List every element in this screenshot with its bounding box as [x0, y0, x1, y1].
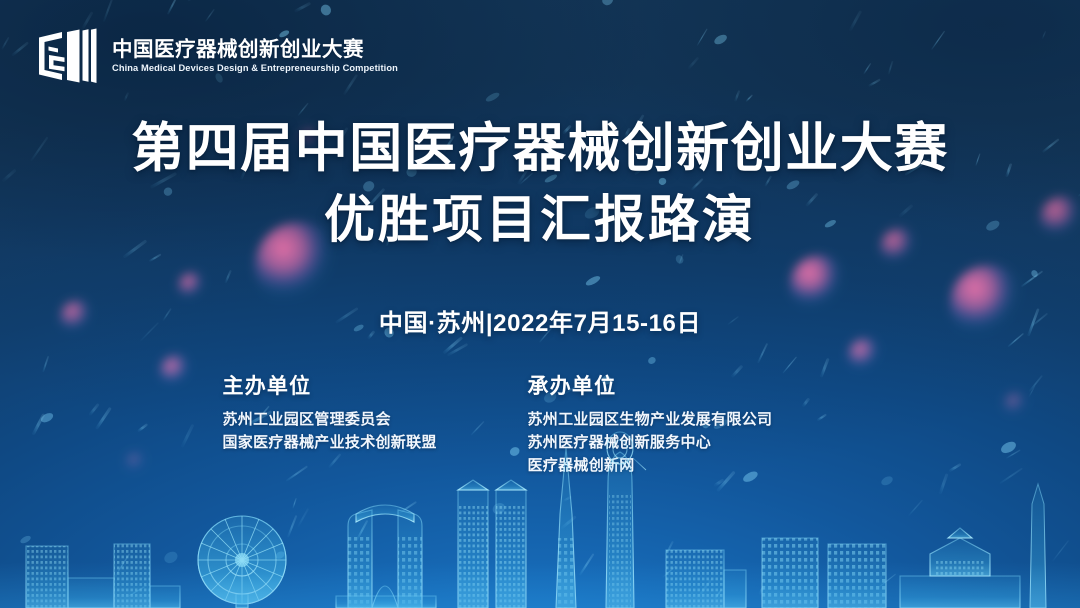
sphere — [848, 338, 884, 374]
organizer-section: 主办单位 苏州工业园区管理委员会 国家医疗器械产业技术创新联盟 承办单位 苏州工… — [0, 370, 1080, 477]
headline-line-1: 第四届中国医疗器械创新创业大赛 — [0, 118, 1080, 179]
headline-line-2: 优胜项目汇报路演 — [0, 190, 1080, 249]
page-title: 第四届中国医疗器械创新创业大赛 优胜项目汇报路演 — [0, 118, 1080, 250]
organizer-item: 国家医疗器械产业技术创新联盟 — [223, 432, 528, 455]
organizer-item: 苏州医疗器械创新服务中心 — [528, 432, 858, 455]
organizer-block-co-host: 承办单位 苏州工业园区生物产业发展有限公司 苏州医疗器械创新服务中心 医疗器械创… — [528, 370, 858, 477]
sphere — [178, 272, 208, 302]
event-poster: 中国医疗器械创新创业大赛 China Medical Devices Desig… — [0, 0, 1080, 608]
organizer-item: 医疗器械创新网 — [528, 455, 858, 478]
organizer-item: 苏州工业园区管理委员会 — [223, 409, 528, 432]
organizer-title: 承办单位 — [528, 370, 858, 400]
brand-name-cn: 中国医疗器械创新创业大赛 — [112, 39, 398, 62]
brand-logo-text: 中国医疗器械创新创业大赛 China Medical Devices Desig… — [112, 39, 398, 74]
brand-logo-lockup: 中国医疗器械创新创业大赛 China Medical Devices Desig… — [36, 28, 398, 84]
ground-glow — [0, 562, 1080, 608]
open-door-book-logo-icon — [36, 28, 98, 84]
organizer-block-host: 主办单位 苏州工业园区管理委员会 国家医疗器械产业技术创新联盟 — [223, 370, 528, 477]
organizer-item: 苏州工业园区生物产业发展有限公司 — [528, 409, 858, 432]
venue-date-line: 中国·苏州|2022年7月15-16日 — [0, 303, 1080, 338]
brand-name-en: China Medical Devices Design & Entrepren… — [112, 63, 398, 73]
organizer-title: 主办单位 — [223, 370, 528, 400]
